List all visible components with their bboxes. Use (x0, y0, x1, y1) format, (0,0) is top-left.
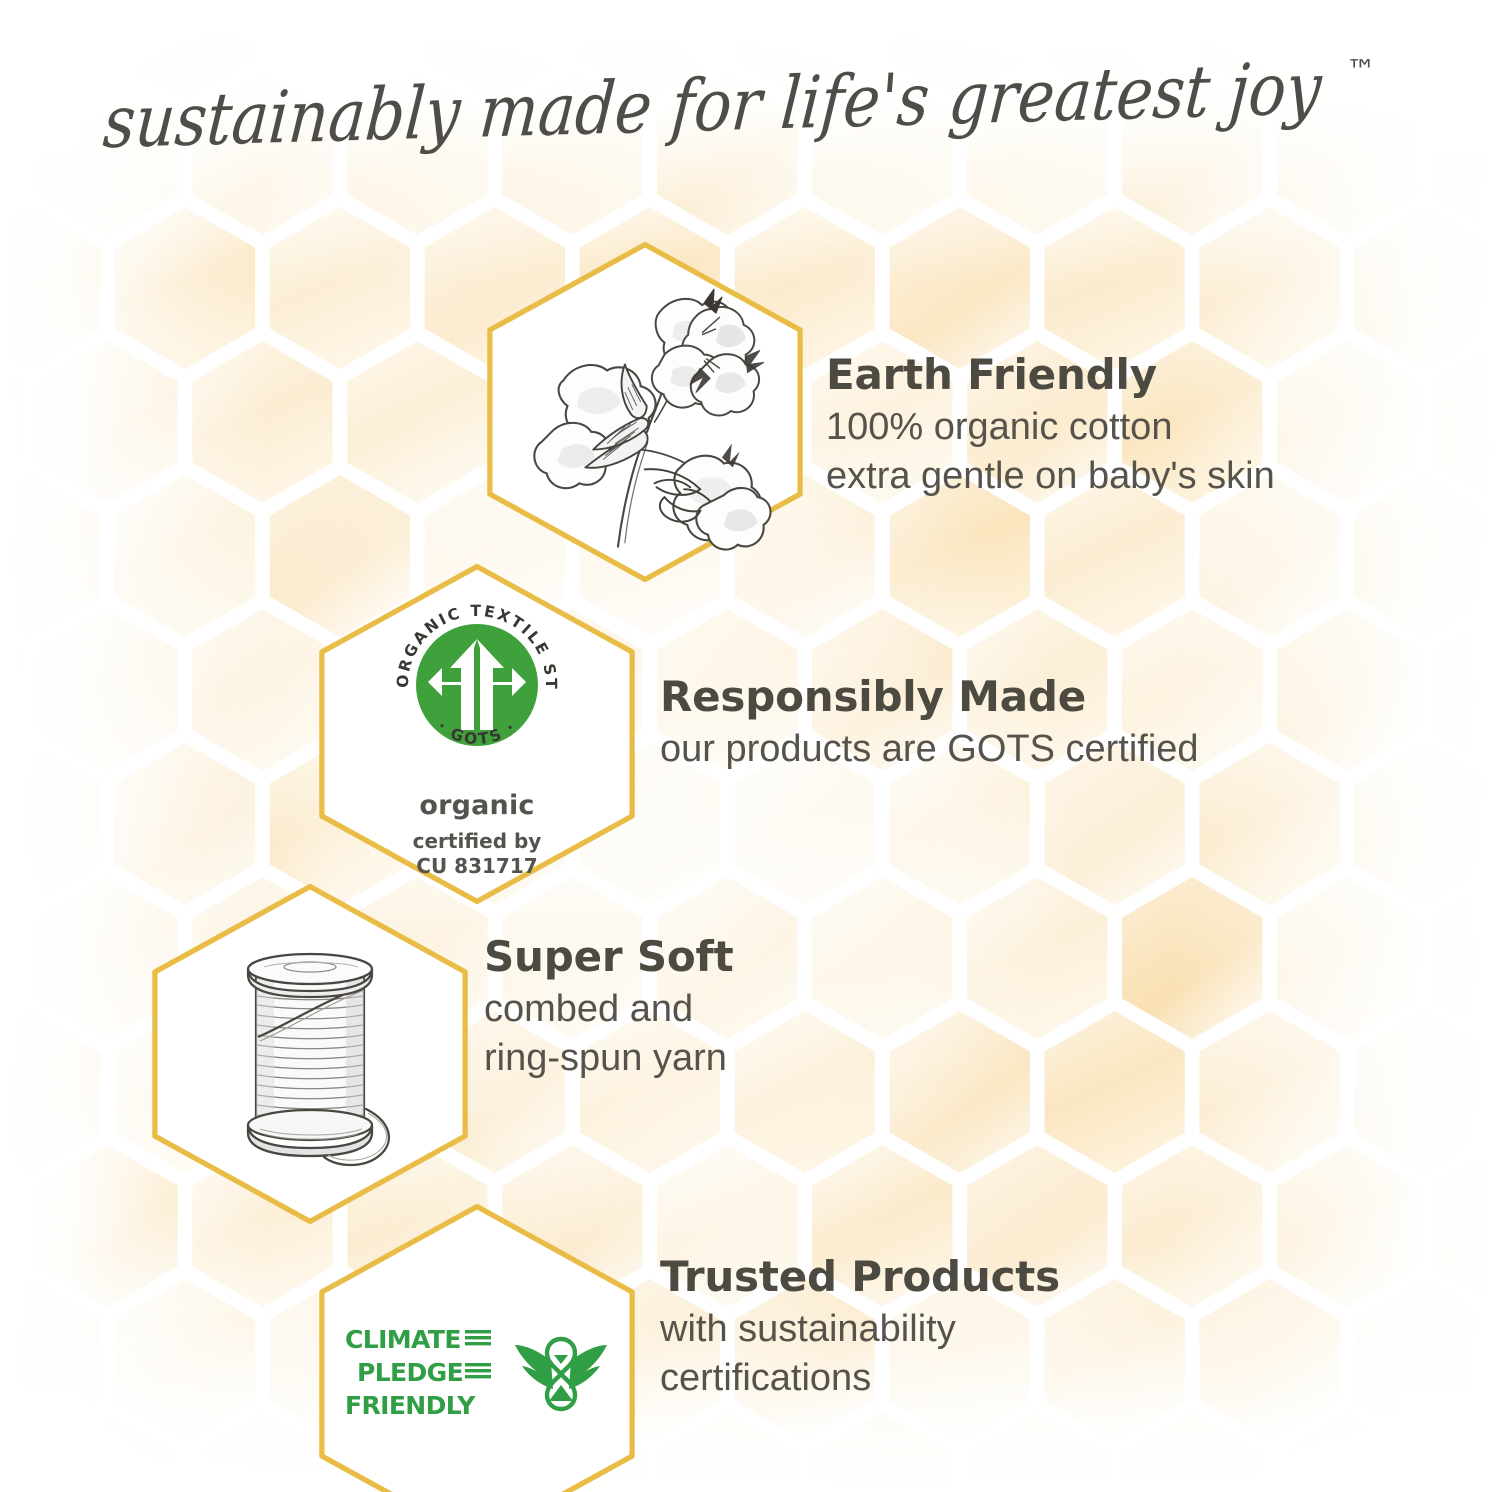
feature-text-trusted-products: Trusted Products with sustainability cer… (660, 1252, 1060, 1402)
honeycomb-cell (0, 609, 23, 771)
feature-hex-trusted-products: CLIMATE PLEDGE FRIENDLY (312, 1200, 642, 1492)
feature-line-2: ring-spun yarn (484, 1034, 734, 1083)
honeycomb-cell (1122, 877, 1262, 1039)
feature-text-responsibly-made: Responsibly Made our products are GOTS c… (660, 672, 1199, 774)
honeycomb-cell (115, 207, 255, 369)
honeycomb-cell (192, 341, 332, 503)
honeycomb-cell (1200, 743, 1340, 905)
feature-title: Responsibly Made (660, 672, 1199, 721)
honeycomb-cell (37, 1413, 177, 1492)
honeycomb-cell (115, 475, 255, 637)
feature-text-super-soft: Super Soft combed and ring-spun yarn (484, 932, 734, 1082)
honeycomb-cell (37, 341, 177, 503)
honeycomb-cell (1277, 341, 1417, 503)
headline-tagline: sustainably made for life's greatest joy… (0, 46, 1500, 156)
honeycomb-cell (1122, 1145, 1262, 1307)
cpf-line-2: PLEDGE (357, 1358, 463, 1387)
trademark-symbol: ™ (1346, 54, 1376, 89)
honeycomb-cell (1354, 1279, 1494, 1441)
honeycomb-cell (0, 1011, 100, 1173)
honeycomb-cell (1045, 207, 1185, 369)
feature-line-2: extra gentle on baby's skin (826, 452, 1275, 501)
honeycomb-cell (270, 207, 410, 369)
honeycomb-cell (1045, 1279, 1185, 1441)
honeycomb-cell (37, 609, 177, 771)
cpf-line-1: CLIMATE (345, 1325, 461, 1354)
honeycomb-cell (1354, 1011, 1494, 1173)
feature-title: Earth Friendly (826, 350, 1275, 399)
climate-pledge-friendly-icon: CLIMATE PLEDGE FRIENDLY (348, 1238, 605, 1492)
honeycomb-cell (0, 1145, 23, 1307)
honeycomb-cell (0, 877, 23, 1039)
certified-by-label: certified by (413, 829, 542, 854)
honeycomb-cell (1354, 475, 1494, 637)
feature-title: Super Soft (484, 932, 734, 981)
honeycomb-cell (1277, 1413, 1417, 1492)
gots-certified-by: certified by CU 831717 (413, 829, 542, 879)
feature-hex-responsibly-made: GLOBAL ORGANIC TEXTILE STANDARD · GOTS ·… (312, 560, 642, 908)
honeycomb-cell (657, 1413, 797, 1492)
honeycomb-cell (735, 1011, 875, 1173)
honeycomb-cell (0, 743, 100, 905)
feature-line-1: combed and (484, 985, 734, 1034)
thread-spool-icon (181, 918, 438, 1189)
honeycomb-cell (1200, 1279, 1340, 1441)
feature-line-1: 100% organic cotton (826, 403, 1275, 452)
gots-seal: GLOBAL ORGANIC TEXTILE STANDARD · GOTS · (382, 590, 572, 780)
feature-title: Trusted Products (660, 1252, 1060, 1301)
honeycomb-cell (967, 877, 1107, 1039)
cpf-wordmark: CLIMATE PLEDGE FRIENDLY (345, 1322, 495, 1426)
honeycomb-cell (890, 1011, 1030, 1173)
feature-line-1: with sustainability (660, 1305, 1060, 1354)
honeycomb-cell (1277, 609, 1417, 771)
honeycomb-cell (1277, 877, 1417, 1039)
feature-text-earth-friendly: Earth Friendly 100% organic cotton extra… (826, 350, 1275, 500)
honeycomb-cell (0, 341, 23, 503)
honeycomb-cell (347, 341, 487, 503)
honeycomb-cell (812, 1413, 952, 1492)
honeycomb-cell (1432, 1145, 1500, 1307)
cotton-branch-icon (516, 276, 773, 547)
gots-organic-label: organic (419, 790, 534, 821)
honeycomb-cell (1045, 1011, 1185, 1173)
honeycomb-cell (1432, 341, 1500, 503)
cpf-line-3: FRIENDLY (345, 1391, 476, 1420)
honeycomb-cell (0, 207, 100, 369)
honeycomb-cell (1432, 609, 1500, 771)
feature-line-1: our products are GOTS certified (660, 725, 1199, 774)
headline-script: sustainably made for life's greatest joy (100, 47, 1325, 161)
honeycomb-cell (1432, 877, 1500, 1039)
honeycomb-cell (1354, 743, 1494, 905)
honeycomb-cell (890, 207, 1030, 369)
honeycomb-cell (1354, 207, 1494, 369)
feature-line-2: certifications (660, 1354, 1060, 1403)
certifier-code: CU 831717 (413, 854, 542, 879)
honeycomb-cell (1277, 1145, 1417, 1307)
honeycomb-cell (1200, 1011, 1340, 1173)
honeycomb-cell (967, 1413, 1107, 1492)
honeycomb-cell (115, 1279, 255, 1441)
feature-hex-super-soft (145, 880, 475, 1228)
feature-hex-earth-friendly (480, 238, 810, 586)
winged-hourglass-icon (513, 1331, 609, 1417)
honeycomb-cell (812, 877, 952, 1039)
sustainability-infographic: sustainably made for life's greatest joy… (0, 0, 1500, 1492)
honeycomb-cell (1200, 207, 1340, 369)
gots-certification-icon: GLOBAL ORGANIC TEXTILE STANDARD · GOTS ·… (348, 598, 605, 869)
honeycomb-cell (0, 475, 100, 637)
honeycomb-cell (1122, 1413, 1262, 1492)
honeycomb-cell (0, 1279, 100, 1441)
